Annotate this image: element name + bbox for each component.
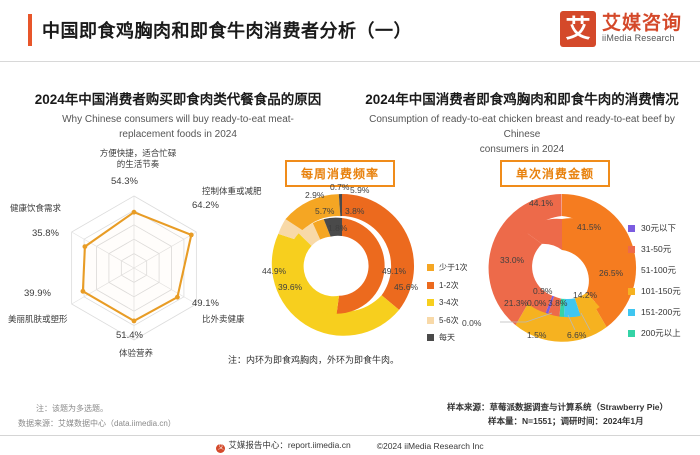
legend-item-less-than-1[interactable]: 少于1次	[427, 262, 467, 273]
amount-outer-val-0-0: 0.0%	[462, 318, 481, 328]
legend-swatch-3-4	[427, 299, 434, 306]
amount-inner-val-0-9: 0.9%	[533, 286, 552, 296]
amount-inner-val-41-5: 41.5%	[577, 222, 601, 232]
amount-inner-val-6-6: 6.6%	[567, 330, 586, 340]
amount-inner-val-14-2: 14.2%	[573, 290, 597, 300]
title-accent-bar	[28, 14, 32, 46]
weekly-outer-val-44-9: 44.9%	[262, 266, 286, 276]
amount-outer-val-33-0: 33.0%	[500, 255, 524, 265]
legend-item-151-200[interactable]: 151-200元	[628, 306, 681, 318]
legend-item-51-100[interactable]: 51-100元	[628, 264, 681, 276]
weekly-inner-val-39-6: 39.6%	[278, 282, 302, 292]
legend-swatch-5-6	[427, 317, 434, 324]
radar-value-nutrition: 51.4%	[116, 330, 143, 341]
legend-item-under-30[interactable]: 30元以下	[628, 222, 681, 234]
right-title-en-line1: Consumption of ready-to-eat chicken brea…	[352, 112, 692, 142]
left-title-cn: 2024年中国消费者购买即食肉类代餐食品的原因	[18, 88, 338, 108]
right-chart-note: 注：内环为即食鸡胸肉，外环为即食牛肉。	[228, 353, 399, 366]
radar-axis-label-nutrition: 体验营养	[106, 348, 166, 359]
weekly-inner-val-3-8: 3.8%	[345, 206, 364, 216]
legend-item-31-50[interactable]: 31-50元	[628, 243, 681, 255]
radar-chart: 方便快捷，适合忙碌的生活节奏 54.3% 控制体重或减肥 64.2% 比外卖健康…	[6, 150, 256, 380]
amount-outer-val-26-5: 26.5%	[599, 268, 623, 278]
weekly-frequency-legend: 少于1次 1-2次 3-4次 5-6次 每天	[427, 262, 467, 350]
copyright-label: ©2024 iiMedia Research Inc	[377, 441, 484, 451]
legend-item-everyday[interactable]: 每天	[427, 332, 467, 343]
radar-axis-label-skin: 美丽肌肤或塑形	[8, 314, 68, 325]
brand-name-en: iiMedia Research	[602, 34, 682, 43]
weekly-outer-val-2-9: 2.9%	[305, 190, 324, 200]
legend-swatch-over-200	[628, 330, 635, 337]
weekly-outer-val-0-7: 0.7%	[330, 182, 349, 192]
brand-logo: 艾 艾媒咨询 iiMedia Research	[560, 11, 682, 47]
weekly-outer-val-45-6: 45.6%	[394, 282, 418, 292]
right-title-cn: 2024年中国消费者即食鸡胸肉和即食牛肉的消费情况	[352, 88, 692, 108]
left-title-en-line2: replacement foods in 2024	[18, 127, 338, 142]
legend-swatch-151-200	[628, 309, 635, 316]
left-data-source: 数据来源：艾媒数据中心（data.iimedia.cn）	[18, 418, 176, 429]
amount-inner-val-0-0b: 0.0%	[527, 298, 546, 308]
radar-value-healthier: 49.1%	[192, 298, 219, 309]
left-chart-note: 注：该题为多选题。	[36, 403, 108, 414]
radar-value-skin: 39.9%	[24, 288, 51, 299]
radar-axis-label-weight: 控制体重或减肥	[202, 186, 262, 197]
single-spend-donut-svg	[480, 182, 650, 354]
amount-inner-val-21-3: 21.3%	[504, 298, 528, 308]
single-spend-donut	[480, 182, 650, 354]
sample-size: 样本量：N=1551；调研时间：2024年1月	[488, 415, 644, 427]
right-section-heading: 2024年中国消费者即食鸡胸肉和即食牛肉的消费情况 Consumption of…	[352, 88, 692, 157]
sample-source: 样本来源：草莓派数据调查与计算系统（Strawberry Pie）	[447, 401, 668, 413]
amount-inner-val-3-8: 3.8%	[548, 298, 567, 308]
legend-swatch-31-50	[628, 246, 635, 253]
weekly-inner-val-1-8: 1.8%	[328, 223, 347, 233]
amount-inner-val-1-5: 1.5%	[527, 330, 546, 340]
report-center-link[interactable]: 艾艾媒报告中心：report.iimedia.cn	[216, 439, 350, 453]
legend-swatch-less-than-1	[427, 264, 434, 271]
amount-outer-val-44-1: 44.1%	[529, 198, 553, 208]
legend-swatch-everyday	[427, 334, 434, 341]
radar-value-convenience: 54.3%	[111, 176, 138, 187]
right-title-en-line2: consumers in 2024	[352, 142, 692, 157]
weekly-inner-val-49-1: 49.1%	[382, 266, 406, 276]
left-title-en-line1: Why Chinese consumers will buy ready-to-…	[18, 112, 338, 127]
legend-swatch-51-100	[628, 267, 635, 274]
weekly-inner-val-5-7: 5.7%	[315, 206, 334, 216]
legend-item-101-150[interactable]: 101-150元	[628, 285, 681, 297]
report-center-icon: 艾	[216, 444, 225, 453]
legend-item-1-2[interactable]: 1-2次	[427, 280, 467, 291]
footer-bar: 艾艾媒报告中心：report.iimedia.cn ©2024 iiMedia …	[0, 435, 700, 455]
page-header: 中国即食鸡胸肉和即食牛肉消费者分析（一） 艾 艾媒咨询 iiMedia Rese…	[0, 0, 700, 62]
radar-axis-label-healthier: 比外卖健康	[202, 314, 245, 325]
radar-value-weight: 64.2%	[192, 200, 219, 211]
legend-item-3-4[interactable]: 3-4次	[427, 297, 467, 308]
left-section-heading: 2024年中国消费者购买即食肉类代餐食品的原因 Why Chinese cons…	[18, 88, 338, 142]
legend-swatch-under-30	[628, 225, 635, 232]
legend-item-over-200[interactable]: 200元以上	[628, 327, 681, 339]
brand-mark-icon: 艾	[560, 11, 596, 47]
radar-series-polygon	[83, 212, 191, 321]
radar-axis-label-convenience: 方便快捷，适合忙碌的生活节奏	[88, 148, 188, 171]
brand-name-cn: 艾媒咨询	[602, 14, 682, 34]
weekly-outer-val-5-9: 5.9%	[350, 185, 369, 195]
radar-value-healthy-diet: 35.8%	[32, 228, 59, 239]
legend-swatch-1-2	[427, 282, 434, 289]
report-center-label: 艾媒报告中心：report.iimedia.cn	[228, 440, 350, 450]
legend-swatch-101-150	[628, 288, 635, 295]
page-title: 中国即食鸡胸肉和即食牛肉消费者分析（一）	[42, 17, 412, 43]
single-spend-legend: 30元以下 31-50元 51-100元 101-150元 151-200元 2…	[628, 222, 681, 348]
radar-axis-label-healthy-diet: 健康饮食需求	[10, 203, 61, 214]
